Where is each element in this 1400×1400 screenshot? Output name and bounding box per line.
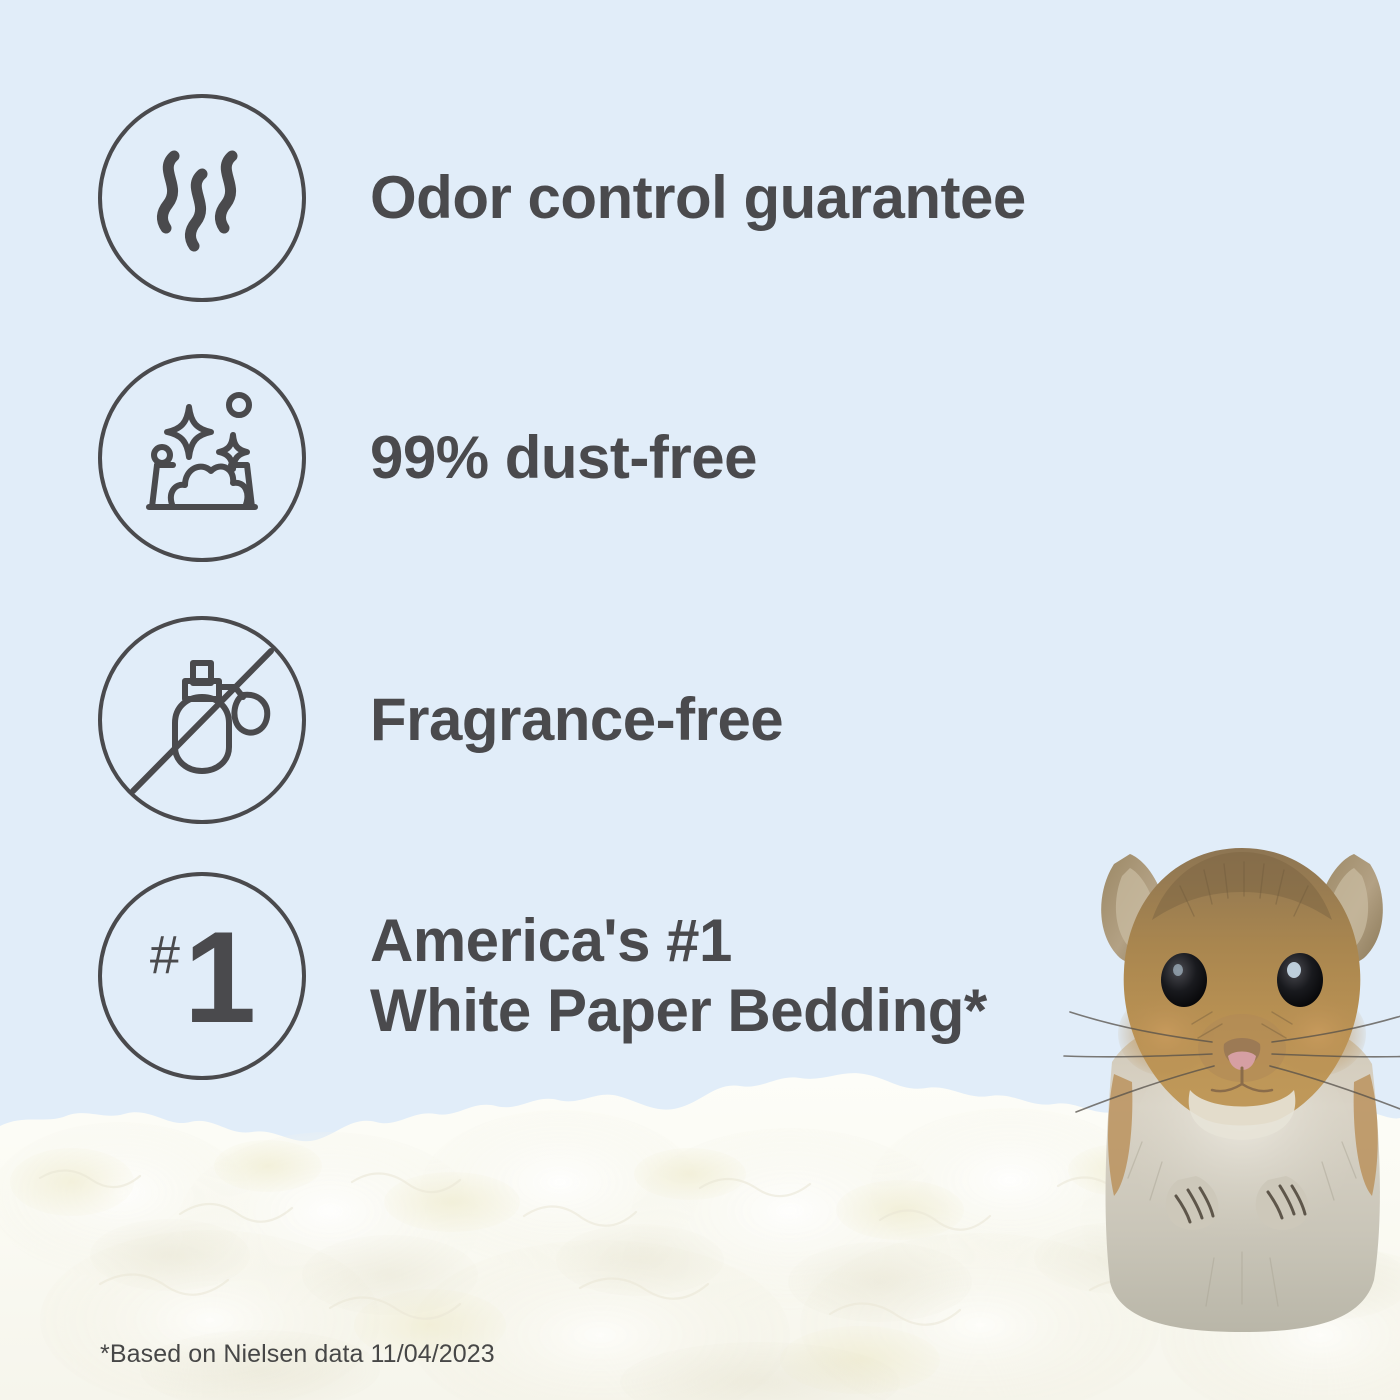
feature-row-odor-control: Odor control guarantee [98, 94, 1026, 302]
number-one-icon: # 1 [98, 872, 306, 1080]
feature-label-number-one: America's #1 White Paper Bedding* [370, 906, 987, 1045]
feature-row-number-one: # 1 America's #1 White Paper Bedding* [98, 872, 987, 1080]
feature-row-fragrance-free: Fragrance-free [98, 616, 783, 824]
no-perfume-bottle-icon [98, 616, 306, 824]
product-feature-infographic: Odor control guarantee [0, 0, 1400, 1400]
feature-label-odor-control: Odor control guarantee [370, 163, 1026, 233]
number-one-digit: 1 [184, 922, 254, 1034]
dust-sparkle-tray-icon [98, 354, 306, 562]
number-one-hash: # [150, 928, 180, 982]
odor-waves-icon [98, 94, 306, 302]
feature-label-fragrance-free: Fragrance-free [370, 685, 783, 755]
feature-label-dust-free: 99% dust-free [370, 423, 757, 493]
gerbil-image [1062, 812, 1400, 1332]
footnote-disclaimer: *Based on Nielsen data 11/04/2023 [100, 1340, 495, 1369]
feature-row-dust-free: 99% dust-free [98, 354, 757, 562]
